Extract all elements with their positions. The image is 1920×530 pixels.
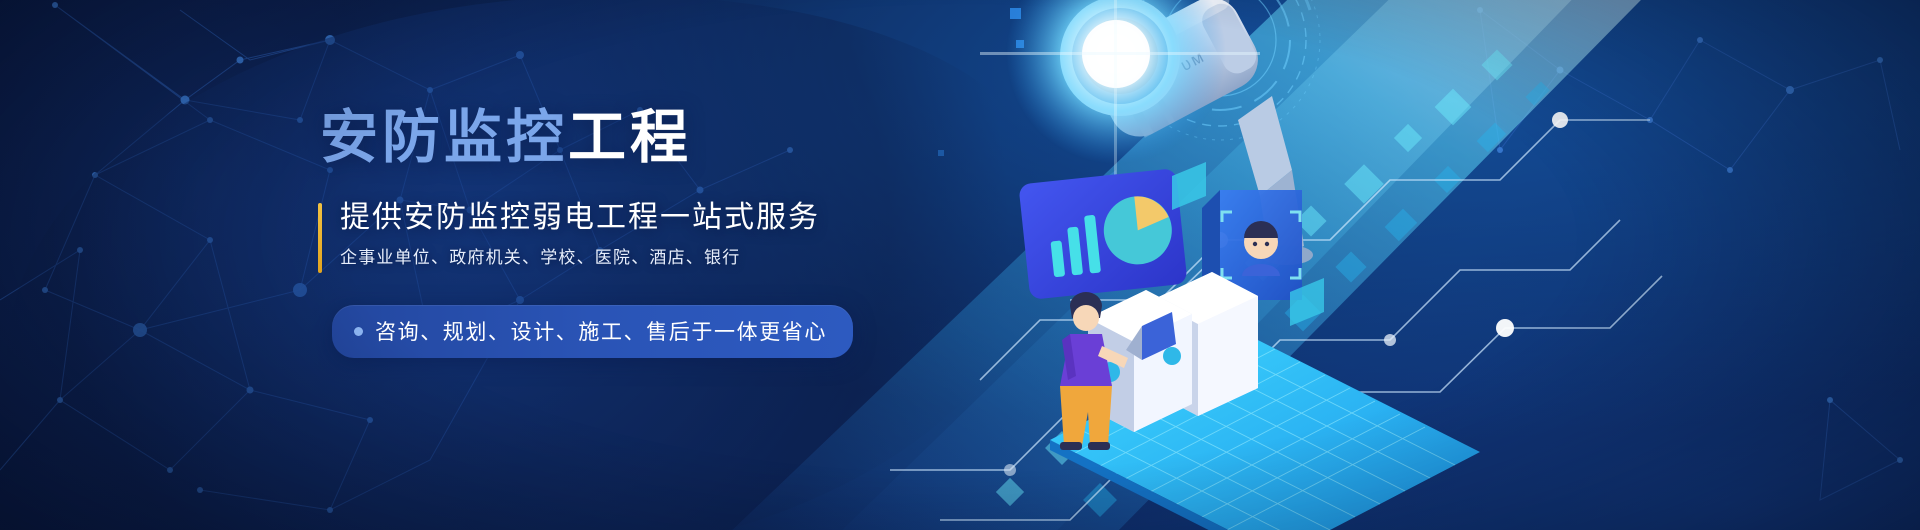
title-highlight: 安防监控 <box>320 105 568 170</box>
subtitle-block: 提供安防监控弱电工程一站式服务 企事业单位、政府机关、学校、医院、酒店、银行 <box>318 199 1118 269</box>
promo-banner: ᴜᴍ <box>0 0 1920 530</box>
page-title: 安防监控工程 <box>320 106 1118 171</box>
service-pill-badge[interactable]: 咨询、规划、设计、施工、售后于一体更省心 <box>332 305 853 358</box>
text-block: 安防监控工程 提供安防监控弱电工程一站式服务 企事业单位、政府机关、学校、医院、… <box>318 106 1118 358</box>
sectors-line: 企事业单位、政府机关、学校、医院、酒店、银行 <box>340 247 1118 269</box>
dot-icon <box>354 327 363 336</box>
service-pill-label: 咨询、规划、设计、施工、售后于一体更省心 <box>375 316 827 346</box>
gold-accent-bar <box>318 203 322 273</box>
subtitle: 提供安防监控弱电工程一站式服务 <box>340 199 1118 237</box>
title-white: 工程 <box>568 105 692 170</box>
face-avatar-icon <box>1242 221 1280 276</box>
